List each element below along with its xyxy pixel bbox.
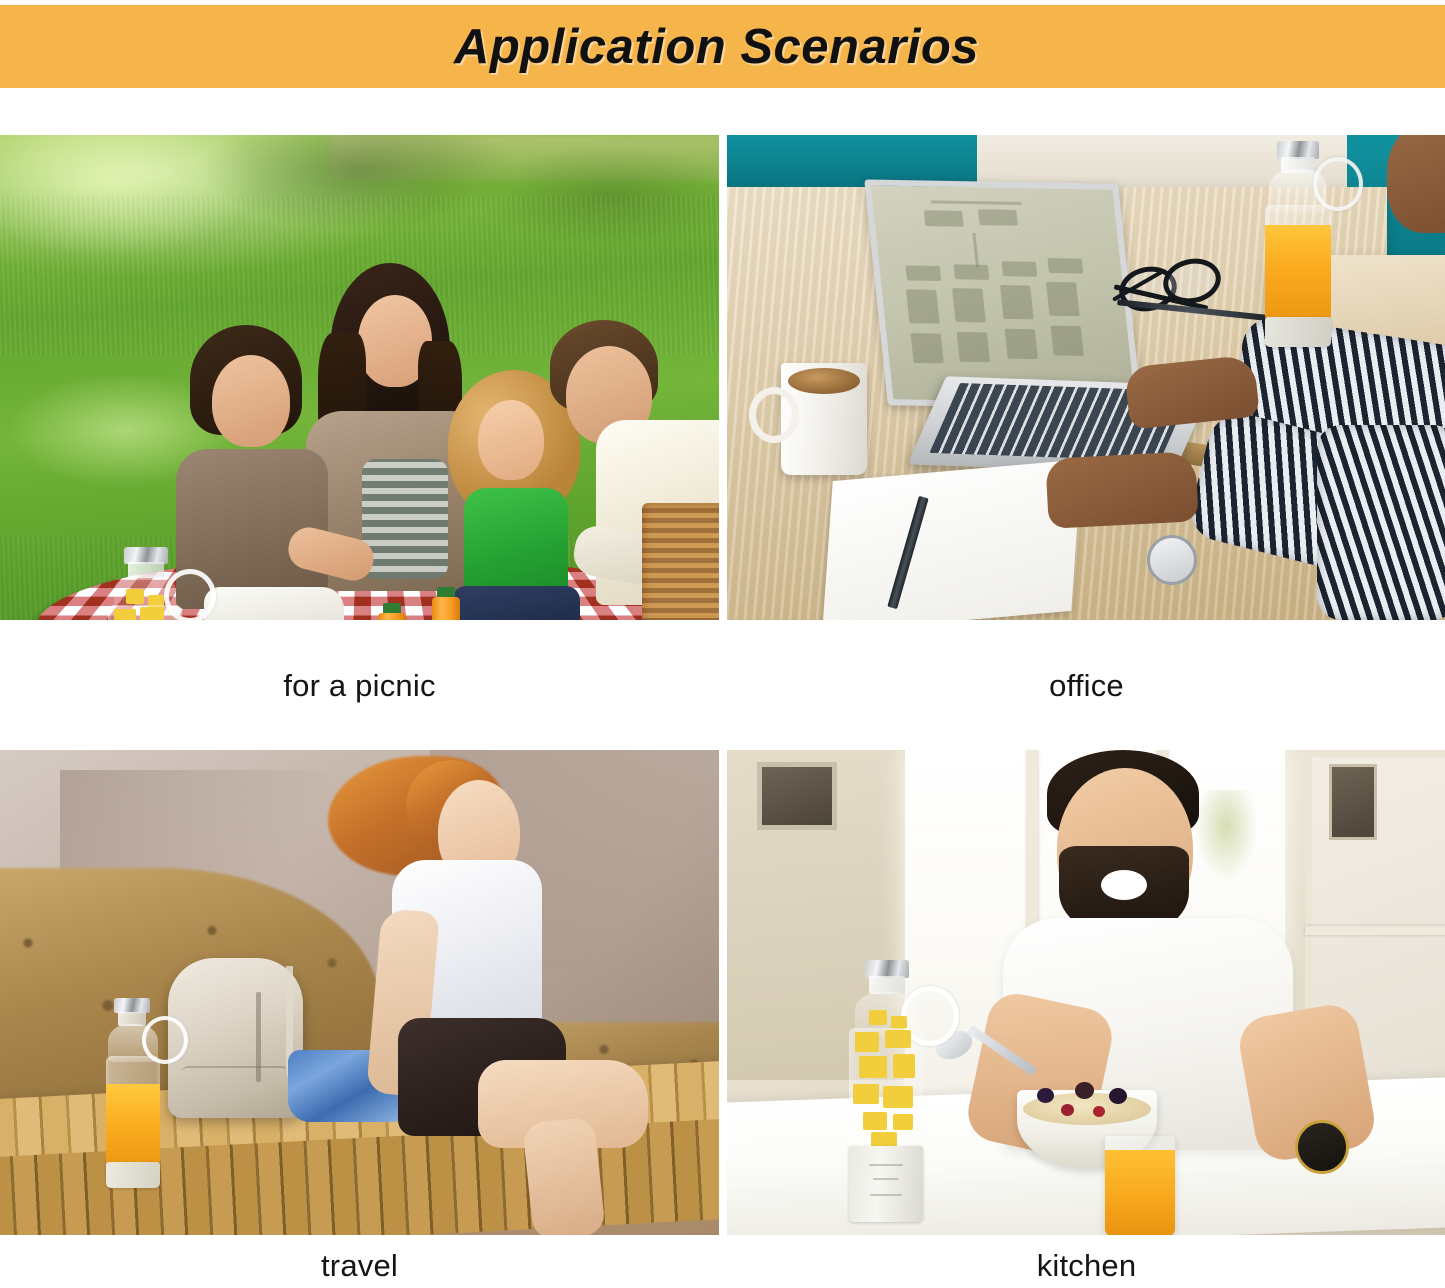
scenario-grid: for a picnic (0, 88, 1445, 1288)
picnic-basket (642, 503, 719, 620)
label-line (869, 1164, 903, 1166)
juice-fill (1105, 1150, 1175, 1235)
kitchen-scene (727, 750, 1445, 1235)
wristwatch (1295, 1120, 1349, 1174)
office-photo (727, 135, 1445, 620)
blender-body (106, 1056, 160, 1168)
fruit-chunk (863, 1112, 887, 1130)
label-line (873, 1178, 899, 1180)
head (212, 355, 290, 447)
picnic-photo (0, 135, 719, 620)
blender-base (1265, 317, 1331, 347)
screen-block (1047, 258, 1083, 274)
screen-block (1046, 282, 1080, 316)
screen-block (978, 209, 1018, 226)
fruit-chunk (883, 1086, 913, 1108)
screen-block (952, 288, 986, 322)
blender-body (108, 605, 182, 620)
screen-block (905, 265, 941, 281)
screen-block (957, 332, 990, 362)
fruit-chunk (893, 1054, 915, 1078)
blender-cap (114, 998, 150, 1013)
scenario-card-travel[interactable] (0, 750, 719, 1235)
picnic-scene (0, 135, 719, 620)
leg-shin (522, 1117, 606, 1235)
blender-base (849, 1146, 923, 1222)
juice-bottle-1 (378, 603, 406, 620)
mouth (1101, 870, 1147, 900)
scenario-card-office[interactable] (727, 135, 1445, 620)
blender-body (1265, 205, 1331, 323)
portable-blender-bottle (90, 547, 182, 620)
bottle-body (378, 613, 406, 620)
fruit-chunk (869, 1010, 887, 1025)
hand (1045, 451, 1198, 529)
kitchen-photo (727, 750, 1445, 1235)
striped-torso (1317, 425, 1445, 620)
backpack (168, 958, 303, 1118)
fruit-chunk (853, 1084, 879, 1104)
screen-block (1000, 285, 1034, 319)
notebook (822, 459, 1082, 620)
screen-block (1005, 329, 1038, 359)
berry (1093, 1106, 1105, 1117)
screen-block (1051, 326, 1084, 356)
screen-block (906, 289, 940, 323)
screen-line (972, 233, 979, 267)
portable-blender-bottle (96, 998, 176, 1188)
blender-base (106, 1162, 160, 1188)
juice-bottle-2 (432, 587, 460, 620)
juice-fill (106, 1084, 160, 1168)
caption-office: office (727, 668, 1445, 704)
screen-block (911, 333, 944, 363)
shirt-stripes (362, 459, 448, 579)
shorts (204, 587, 344, 620)
berry (1109, 1088, 1127, 1104)
fruit-chunk (140, 607, 164, 620)
berry (1075, 1082, 1094, 1099)
caption-picnic: for a picnic (0, 668, 719, 704)
travel-photo (0, 750, 719, 1235)
office-scene (727, 135, 1445, 620)
screen-block (954, 264, 990, 280)
mug-handle (749, 387, 799, 443)
scenario-card-picnic[interactable] (0, 135, 719, 620)
portable-blender-bottle (839, 960, 933, 1230)
fruit-chunk (114, 609, 136, 620)
laptop-screen (864, 179, 1142, 409)
travel-scene (0, 750, 719, 1235)
orange-juice-glass (1105, 1136, 1175, 1235)
portable-blender-bottle (1255, 135, 1345, 355)
caption-kitchen: kitchen (727, 1248, 1445, 1284)
wall-picture (757, 762, 837, 830)
fruit-chunk (859, 1056, 887, 1078)
fruit-chunk (893, 1114, 913, 1130)
page-title: Application Scenarios (454, 19, 979, 75)
blender-body (849, 1028, 923, 1150)
head (1387, 135, 1445, 233)
fruit-chunk (885, 1030, 911, 1048)
header-banner: Application Scenarios (0, 5, 1445, 88)
berry (1037, 1088, 1054, 1103)
fruit-chunk (855, 1032, 879, 1052)
juice-fill (1265, 225, 1331, 323)
backpack-pocket (182, 1066, 288, 1116)
coffee (788, 368, 860, 394)
screen-block (924, 210, 964, 227)
scenario-card-kitchen[interactable] (727, 750, 1445, 1235)
bottle-body (432, 597, 460, 620)
wristwatch (1147, 535, 1197, 585)
screen-block (1002, 261, 1038, 277)
fruit-chunk (126, 589, 144, 604)
person-traveler (318, 750, 608, 1235)
label-line (870, 1194, 902, 1196)
berry (1061, 1104, 1074, 1116)
screen-line (931, 200, 1022, 205)
caption-travel: travel (0, 1248, 719, 1284)
